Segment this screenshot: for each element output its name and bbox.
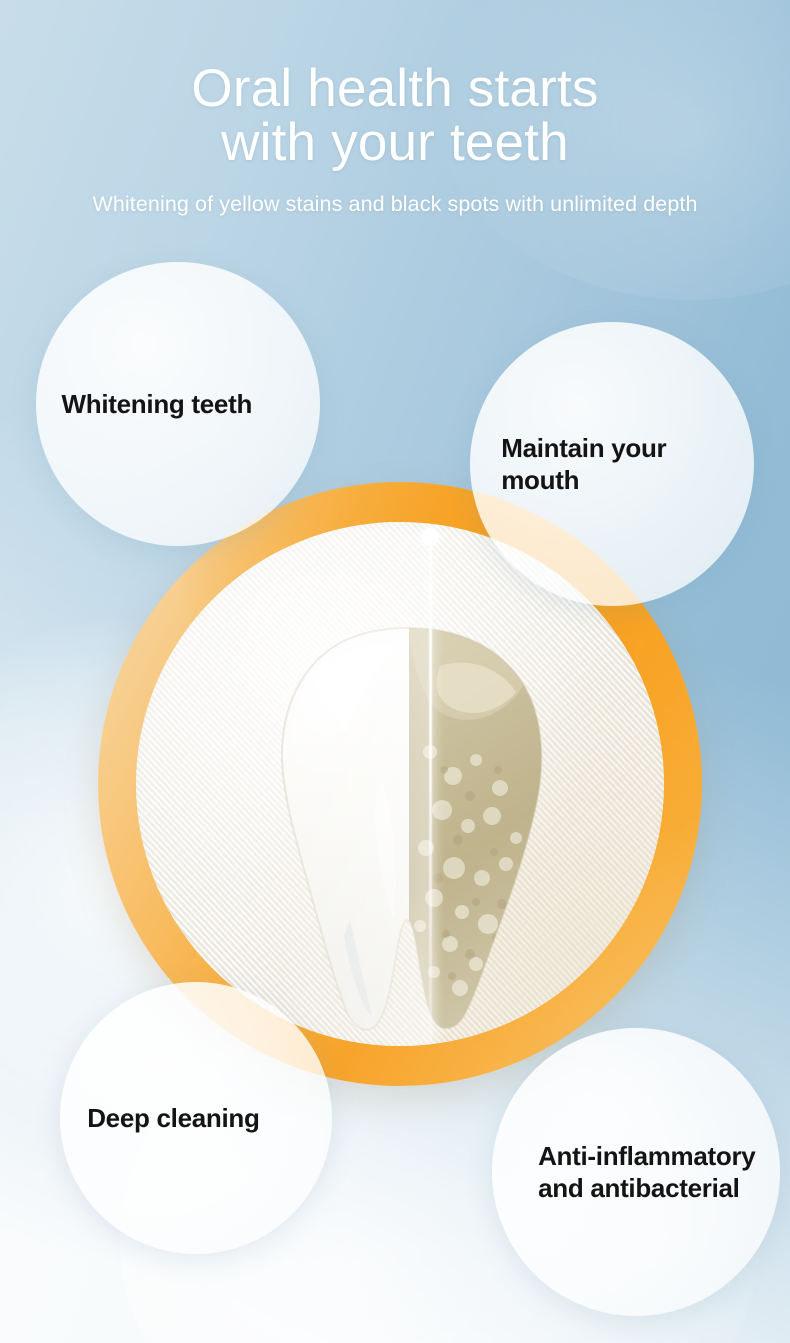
page-title: Oral health starts with your teeth: [0, 62, 790, 170]
page-title-line-2: with your teeth: [0, 116, 790, 170]
page-title-line-1: Oral health starts: [191, 59, 598, 118]
feature-badge-whitening-teeth[interactable]: Whitening teeth: [36, 262, 320, 546]
feature-badge-label: Deep cleaning: [60, 1102, 281, 1134]
tooth-illustration: [254, 620, 564, 1038]
feature-badge-anti-inflammatory[interactable]: Anti-inflammatory and antibacterial: [492, 1028, 780, 1316]
water-stream-line: [429, 528, 432, 1046]
feature-badge-deep-cleaning[interactable]: Deep cleaning: [60, 982, 332, 1254]
feature-badge-label: Whitening teeth: [36, 388, 275, 420]
feature-badge-label: Anti-inflammatory and antibacterial: [492, 1140, 780, 1204]
page-subtitle: Whitening of yellow stains and black spo…: [0, 190, 790, 218]
header: Oral health starts with your teeth White…: [0, 62, 790, 218]
promo-poster: Oral health starts with your teeth White…: [0, 0, 790, 1343]
tooth-icon: [254, 620, 564, 1038]
water-drop-dot: [421, 528, 439, 546]
feature-badge-label: Maintain your mouth: [470, 432, 754, 496]
feature-badge-maintain-your-mouth[interactable]: Maintain your mouth: [470, 322, 754, 606]
